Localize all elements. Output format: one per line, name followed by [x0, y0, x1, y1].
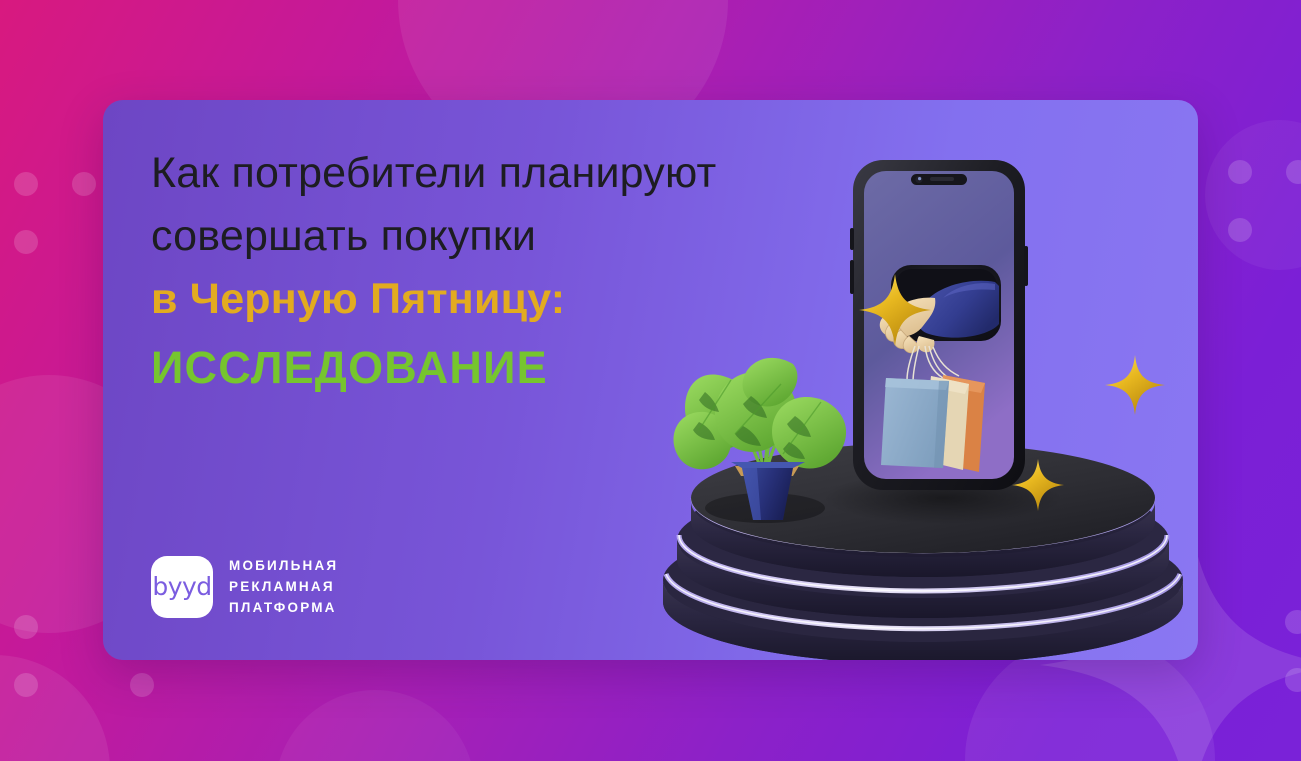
- dot-pattern: [1228, 160, 1301, 242]
- banner-canvas: Как потребители планируют совершать поку…: [0, 0, 1301, 761]
- tagline-line-3: ПЛАТФОРМА: [229, 597, 338, 618]
- dot-pattern: [1285, 610, 1301, 692]
- dot-pattern: [14, 172, 96, 254]
- content-card: Как потребители планируют совершать поку…: [103, 100, 1198, 660]
- hero-illustration: [643, 150, 1198, 660]
- brand-tagline: МОБИЛЬНАЯ РЕКЛАМНАЯ ПЛАТФОРМА: [229, 555, 338, 618]
- byyd-wordmark: byyd: [152, 574, 211, 599]
- byyd-logo-icon: byyd: [151, 556, 213, 618]
- brand-logo[interactable]: byyd МОБИЛЬНАЯ РЕКЛАМНАЯ ПЛАТФОРМА: [151, 555, 338, 618]
- decorative-circle: [275, 690, 475, 761]
- sparkle-icon: [1105, 355, 1165, 415]
- tagline-line-2: РЕКЛАМНАЯ: [229, 576, 338, 597]
- tagline-line-1: МОБИЛЬНАЯ: [229, 555, 338, 576]
